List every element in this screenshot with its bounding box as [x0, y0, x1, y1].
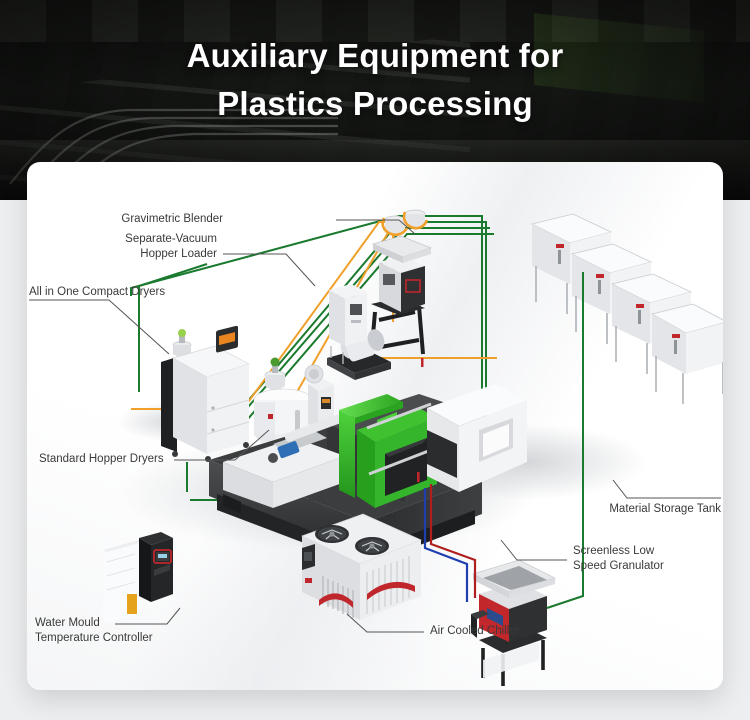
material-storage-tank-4 — [652, 304, 723, 404]
diagram-card: Gravimetric Blender Separate-Vacuum Hopp… — [27, 162, 723, 690]
leader-material-storage-tank — [613, 480, 721, 498]
label-all-in-one-compact-dryers: All in One Compact Dryers — [29, 285, 165, 300]
leader-all-in-one-compact-dryers — [29, 300, 169, 354]
page-title-line-2: Plastics Processing — [217, 85, 533, 123]
label-separate-vacuum-hopper-loader: Separate-Vacuum Hopper Loader — [125, 232, 217, 262]
label-air-cooled-chiller: Air Cooled Chiller — [430, 624, 519, 639]
label-gravimetric-blender: Gravimetric Blender — [121, 212, 223, 227]
equipment-diagram: Gravimetric Blender Separate-Vacuum Hopp… — [27, 162, 723, 690]
page-title: Auxiliary Equipment for Plastics Process… — [0, 0, 750, 160]
label-material-storage-tank: Material Storage Tank — [609, 502, 721, 517]
label-screenless-low-speed-granulator: Screenless Low Speed Granulator — [573, 544, 664, 574]
label-standard-hopper-dryers: Standard Hopper Dryers — [39, 452, 164, 467]
all-in-one-compact-dryer — [161, 325, 249, 462]
label-water-mould-temperature-controller: Water Mould Air Cooled Chiller Temperatu… — [35, 616, 153, 646]
mould-temp-controller-unit — [103, 532, 173, 624]
page-title-line-1: Auxiliary Equipment for — [187, 37, 564, 75]
leader-screenless-low-speed-granulator — [501, 540, 567, 560]
